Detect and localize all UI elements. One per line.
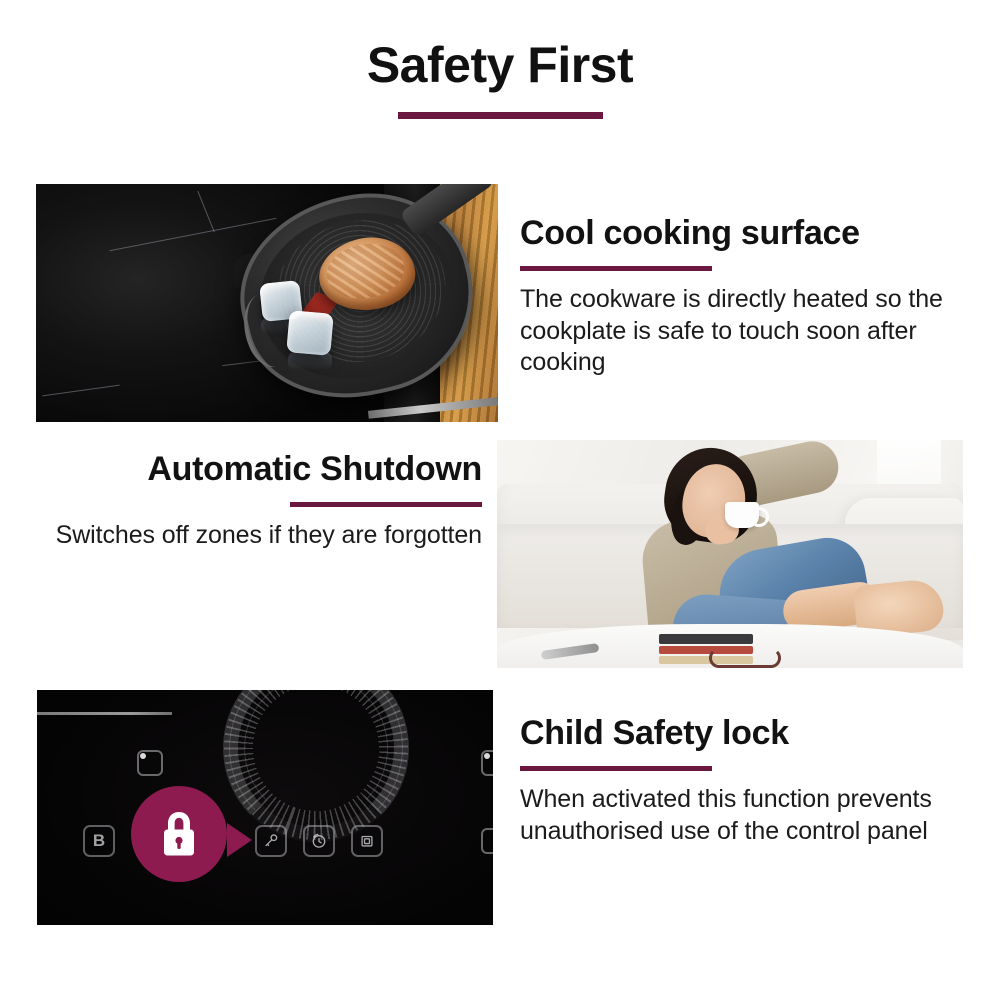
feature-title: Automatic Shutdown	[40, 450, 482, 488]
child-safety-lock-badge	[131, 786, 227, 882]
zone-select-button[interactable]	[481, 750, 493, 776]
feature-image-child-safety-lock: B	[37, 690, 493, 925]
feature-image-automatic-shutdown	[497, 440, 963, 668]
cooking-zone-marking	[109, 218, 276, 251]
cooking-zone-marking	[42, 385, 119, 397]
boost-label: B	[85, 827, 113, 855]
control-dial-ticks	[223, 690, 409, 842]
feature-copy-child-safety-lock: Child Safety lock When activated this fu…	[520, 714, 972, 847]
cooking-zone-marking	[197, 191, 214, 232]
feature-body: When activated this function prevents un…	[520, 784, 972, 847]
page-title: Safety First	[0, 38, 1000, 93]
eyeglasses	[709, 648, 781, 668]
feature-accent-rule	[520, 766, 712, 771]
title-accent-rule	[398, 112, 603, 119]
child-lock-key-icon[interactable]	[255, 825, 287, 857]
feature-copy-automatic-shutdown: Automatic Shutdown Switches off zones if…	[40, 450, 482, 552]
ice-cube	[286, 310, 333, 356]
ice-cube-reflection	[288, 352, 332, 370]
feature-accent-rule	[290, 502, 482, 507]
cooking-zone-icon[interactable]	[351, 825, 383, 857]
feature-accent-rule	[520, 266, 712, 271]
feature-title: Cool cooking surface	[520, 214, 972, 252]
coffee-cup	[725, 502, 759, 528]
power-slider-track	[37, 712, 172, 715]
zone-select-button[interactable]	[481, 828, 493, 854]
poster-canvas: Safety First Cool cooking surface The co…	[0, 0, 1000, 1000]
triangle-right-icon	[227, 823, 252, 857]
feature-copy-cool-cooking-surface: Cool cooking surface The cookware is dir…	[520, 214, 972, 379]
padlock-icon	[156, 809, 202, 859]
feature-title: Child Safety lock	[520, 714, 972, 752]
timer-clock-icon[interactable]	[303, 825, 335, 857]
boost-icon[interactable]: B	[83, 825, 115, 857]
poster-header: Safety First	[0, 38, 1000, 119]
zone-select-button[interactable]	[137, 750, 163, 776]
feature-image-cool-cooking-surface	[36, 184, 498, 422]
feature-body: Switches off zones if they are forgotten	[40, 520, 482, 552]
feature-body: The cookware is directly heated so the c…	[520, 284, 972, 379]
